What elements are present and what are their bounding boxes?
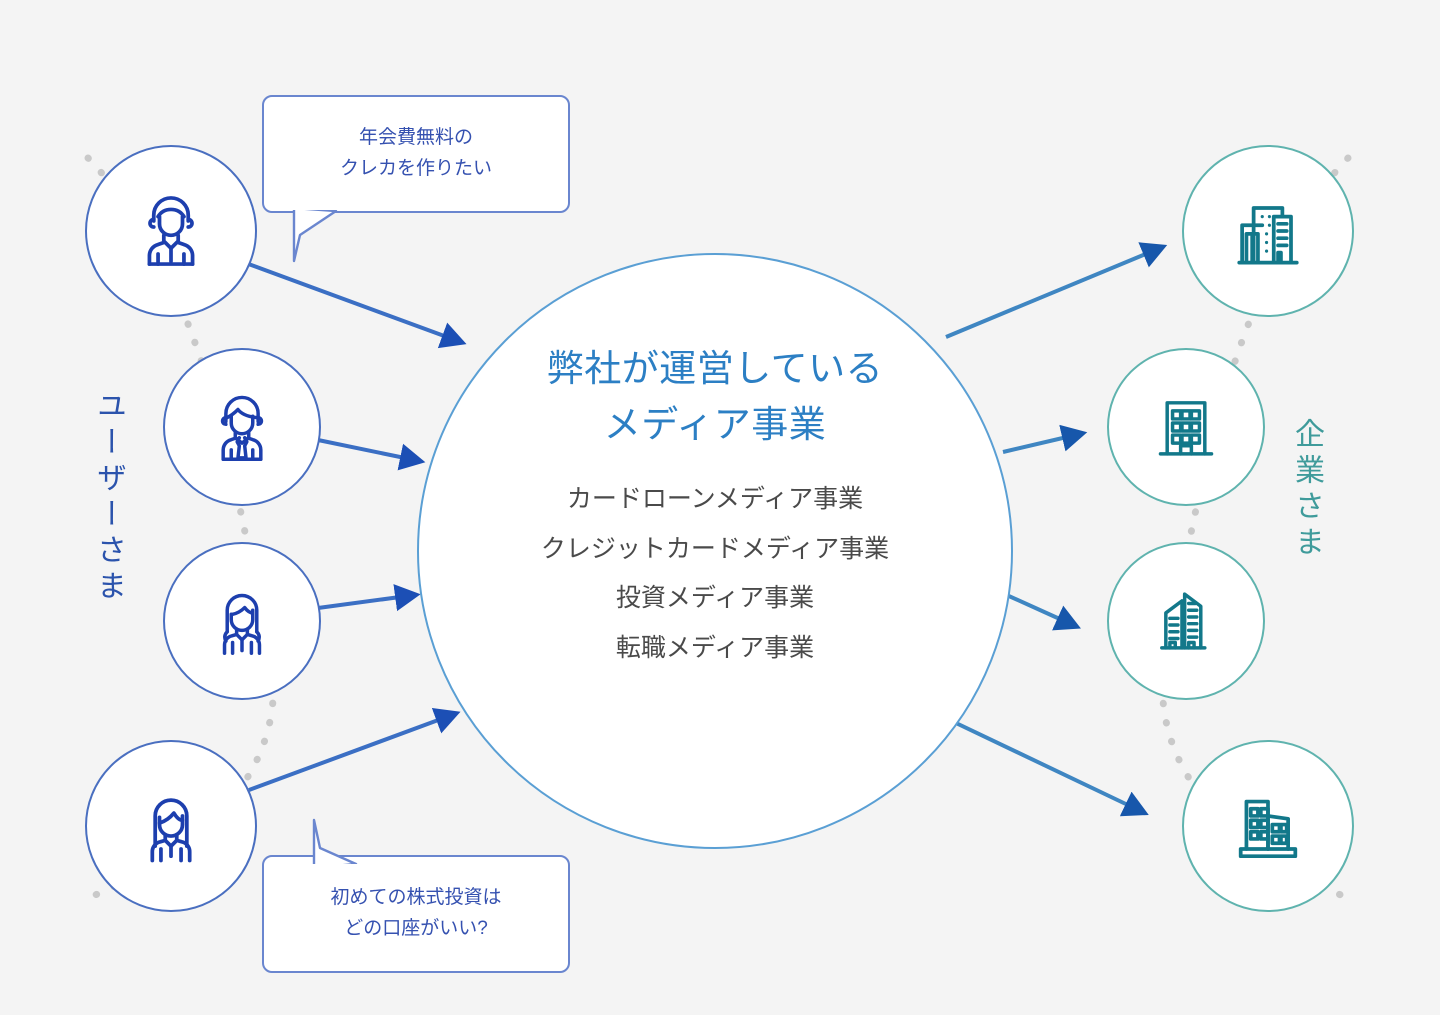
corp-node-4[interactable]: [1182, 740, 1354, 912]
speech-bubble-top: 年会費無料の クレカを作りたい: [262, 95, 570, 213]
hub-title-line1: 弊社が運営している: [547, 341, 883, 397]
bubble-top-line1: 年会費無料の: [359, 123, 473, 154]
hub-business-list: カードローンメディア事業 クレジットカードメディア事業 投資メディア事業 転職メ…: [541, 475, 889, 673]
hub-list-item: クレジットカードメディア事業: [541, 525, 889, 575]
bubble-bottom-line1: 初めての株式投資は: [330, 883, 501, 914]
right-group-label: 企業さま: [1291, 418, 1321, 562]
user-node-2[interactable]: [163, 348, 321, 506]
arrow-hub-to-corp4: [935, 713, 1130, 806]
center-hub: 弊社が運営している メディア事業 カードローンメディア事業 クレジットカードメデ…: [417, 253, 1013, 849]
speech-bubble-bottom: 初めての株式投資は どの口座がいい?: [262, 855, 570, 973]
hub-list-item: 転職メディア事業: [541, 624, 889, 674]
hub-list-item: カードローンメディア事業: [541, 475, 889, 525]
bubble-top-line2: クレカを作りたい: [340, 154, 492, 185]
arrow-hub-to-corp2: [1003, 437, 1067, 452]
user-node-3[interactable]: [163, 542, 321, 700]
corp-node-2[interactable]: [1107, 348, 1265, 506]
speech-bubble-bottom-tail: [300, 812, 380, 872]
twin-towers-icon: [1143, 578, 1229, 664]
office-windows-icon: [1143, 384, 1229, 470]
two-blocks-icon: [1222, 780, 1314, 872]
hub-list-item: 投資メディア事業: [541, 574, 889, 624]
bubble-bottom-line2: どの口座がいい?: [344, 914, 488, 945]
buildings-cluster-icon: [1222, 185, 1314, 277]
corp-node-3[interactable]: [1107, 542, 1265, 700]
hub-title: 弊社が運営している メディア事業: [547, 341, 883, 453]
person-headset-icon: [125, 185, 217, 277]
woman-longhair-icon: [199, 578, 285, 664]
diagram-canvas: 弊社が運営している メディア事業 カードローンメディア事業 クレジットカードメデ…: [0, 0, 1440, 1015]
corp-node-1[interactable]: [1182, 145, 1354, 317]
arrow-hub-to-corp1: [946, 253, 1148, 337]
hub-title-line2: メディア事業: [547, 397, 883, 453]
left-group-label: ユーザーさま: [93, 390, 123, 606]
arrow-user4-to-hub: [249, 719, 441, 790]
woman-bob-icon: [125, 780, 217, 872]
arrow-user2-to-hub: [318, 440, 405, 458]
arrow-user3-to-hub: [318, 597, 400, 608]
person-necktie-icon: [199, 384, 285, 470]
speech-bubble-top-tail: [290, 205, 370, 275]
user-node-1[interactable]: [85, 145, 257, 317]
user-node-4[interactable]: [85, 740, 257, 912]
